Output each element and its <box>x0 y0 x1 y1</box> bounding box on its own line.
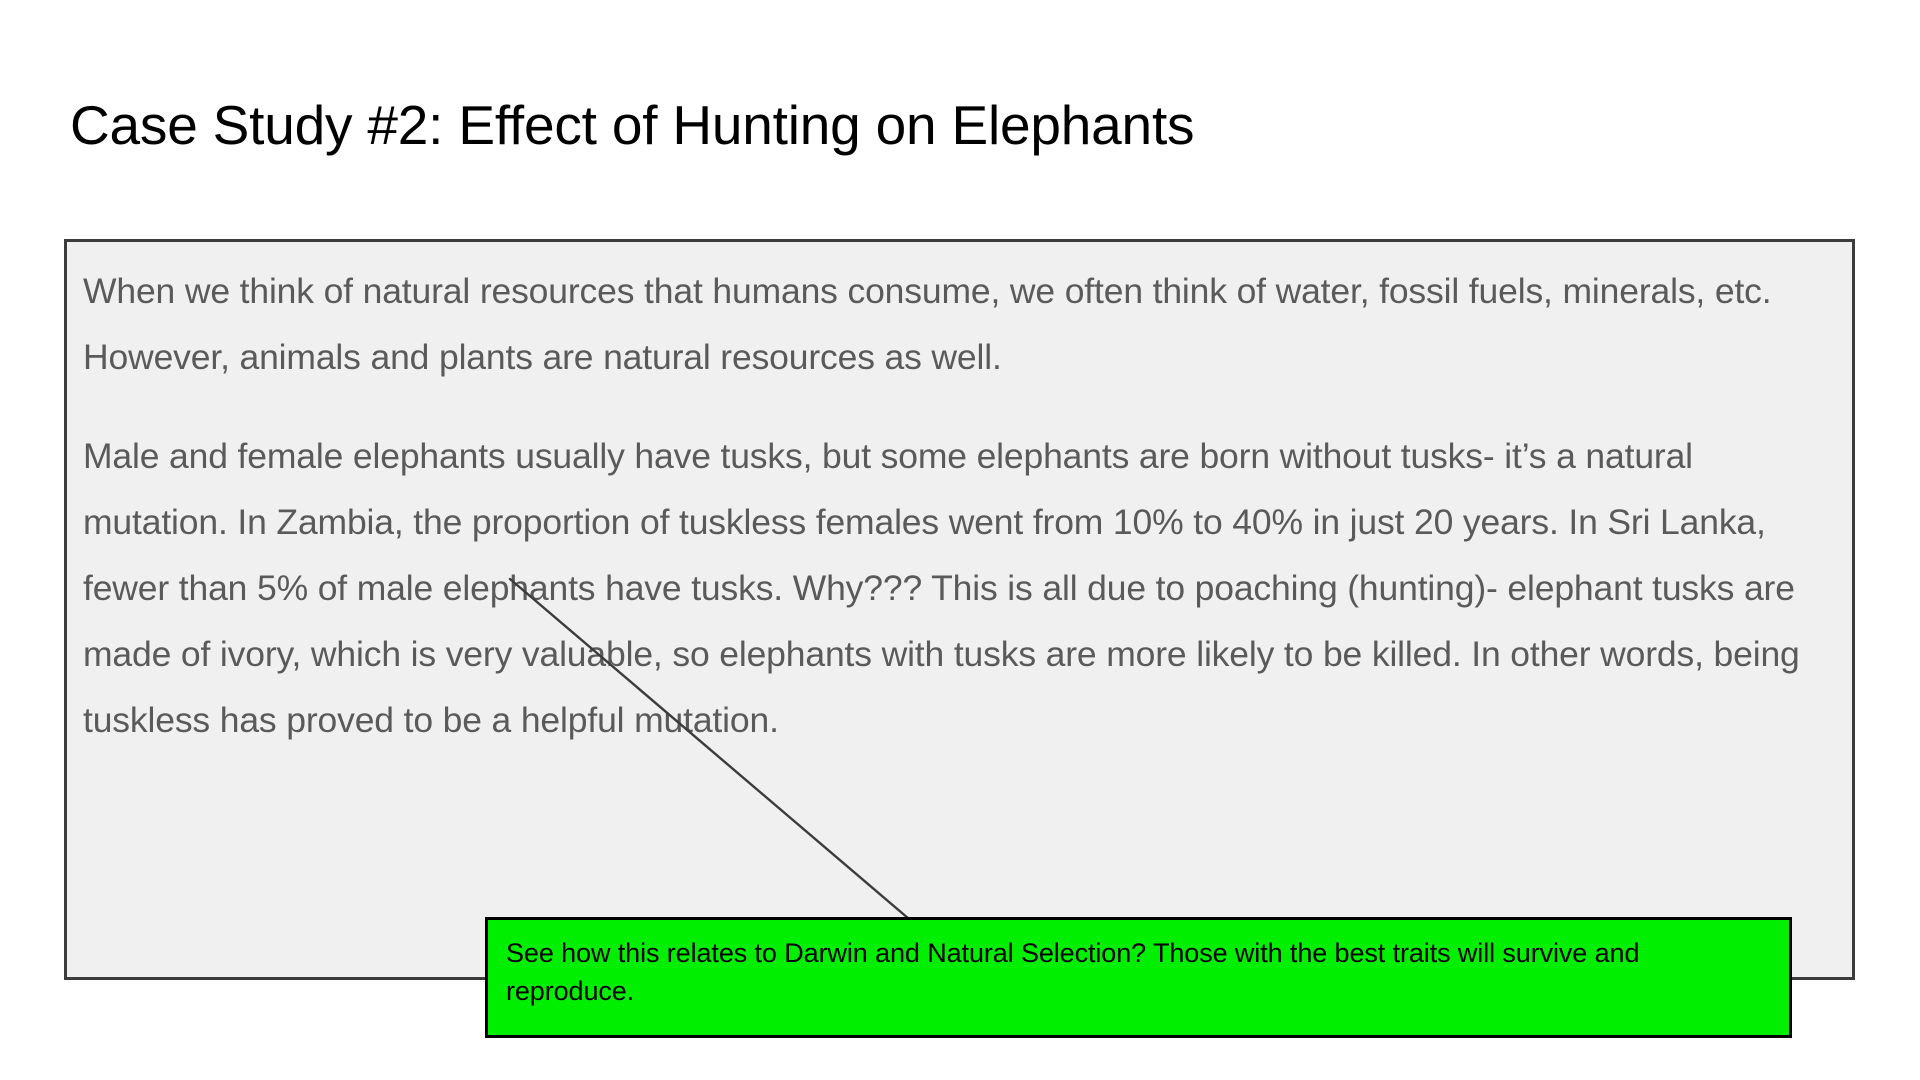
body-text-box: When we think of natural resources that … <box>64 239 1855 980</box>
callout-text: See how this relates to Darwin and Natur… <box>506 934 1771 1010</box>
callout-box: See how this relates to Darwin and Natur… <box>485 917 1792 1038</box>
slide-canvas: Case Study #2: Effect of Hunting on Elep… <box>0 0 1920 1080</box>
body-paragraph-2: Male and female elephants usually have t… <box>83 423 1833 753</box>
body-paragraph-1: When we think of natural resources that … <box>83 258 1833 390</box>
page-title: Case Study #2: Effect of Hunting on Elep… <box>70 92 1850 158</box>
